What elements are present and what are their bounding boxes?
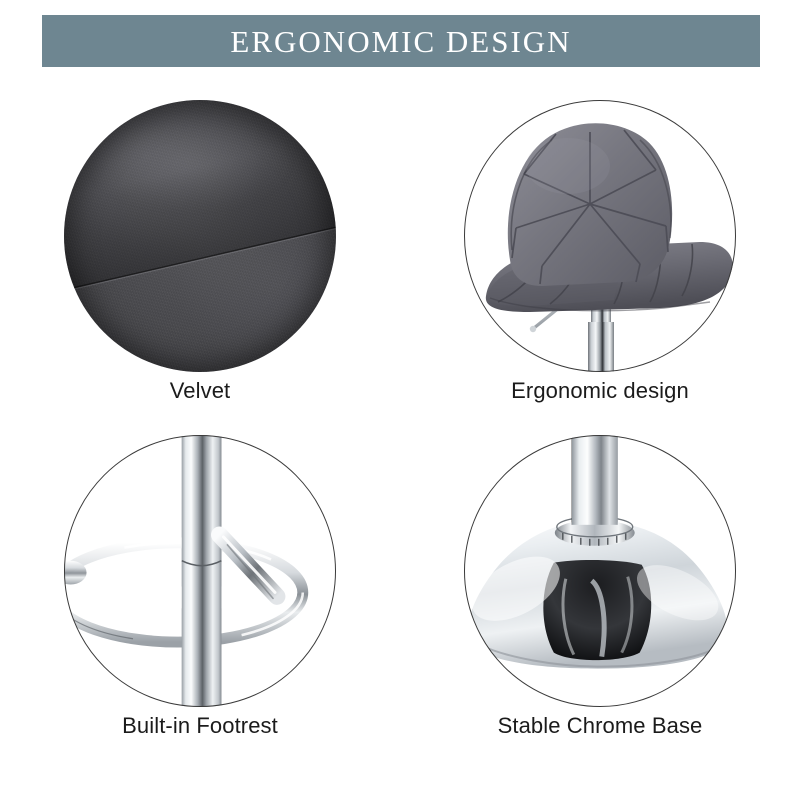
gas-lift-lower [588, 322, 614, 372]
feature-grid: Velvet [0, 90, 800, 780]
header-banner: ERGONOMIC DESIGN [42, 15, 760, 67]
lever-knob [530, 326, 536, 332]
feature-cell-built-in-footrest: Built-in Footrest [0, 425, 400, 755]
base-image-clip [464, 435, 736, 707]
feature-cell-velvet: Velvet [0, 90, 400, 420]
chair-image-clip [464, 100, 736, 372]
page-title: ERGONOMIC DESIGN [230, 26, 571, 57]
ergonomic-chair-image [464, 100, 736, 372]
velvet-image-clip [64, 100, 336, 372]
feature-cell-stable-chrome-base: Stable Chrome Base [400, 425, 800, 755]
chrome-footrest-image [64, 435, 336, 707]
base-pole-front [572, 435, 618, 525]
velvet-fabric-closeup-image [64, 100, 336, 372]
feature-caption-ergonomic-design: Ergonomic design [400, 378, 800, 404]
velvet-texture [64, 100, 336, 372]
chrome-base-illustration [464, 435, 736, 707]
footrest-image-clip [64, 435, 336, 707]
backrest-highlight [526, 138, 610, 194]
footrest-illustration [64, 435, 336, 707]
chair-illustration [464, 100, 736, 372]
feature-caption-built-in-footrest: Built-in Footrest [0, 713, 400, 739]
chrome-base-image [464, 435, 736, 707]
feature-caption-velvet: Velvet [0, 378, 400, 404]
strut-highlight [224, 537, 276, 593]
feature-caption-stable-chrome-base: Stable Chrome Base [400, 713, 800, 739]
chrome-pole-front-lower [182, 609, 222, 707]
feature-cell-ergonomic-design: Ergonomic design [400, 90, 800, 420]
